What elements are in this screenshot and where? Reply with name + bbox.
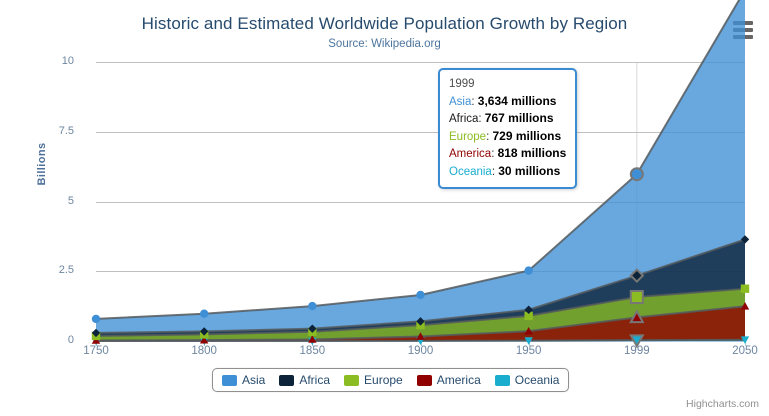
legend-label: America (437, 373, 481, 387)
tooltip-row: America: 818 millions (449, 145, 566, 163)
legend-swatch-oceania (495, 375, 510, 386)
legend-swatch-asia (222, 375, 237, 386)
tooltip-row: Oceania: 30 millions (449, 163, 566, 181)
legend-item-asia[interactable]: Asia (222, 373, 265, 387)
tooltip-header: 1999 (449, 76, 566, 93)
tooltip-row: Africa: 767 millions (449, 110, 566, 128)
tooltip: 1999 Asia: 3,634 millionsAfrica: 767 mil… (438, 68, 577, 189)
tooltip-series-name: Europe (449, 131, 486, 143)
tooltip-series-name: America (449, 148, 491, 160)
highcharts-container: Historic and Estimated Worldwide Populat… (0, 0, 769, 416)
data-point-europe-1999[interactable] (631, 291, 643, 303)
credits-link[interactable]: Highcharts.com (686, 398, 759, 410)
chart-legend[interactable]: AsiaAfricaEuropeAmericaOceania (212, 368, 569, 392)
legend-item-europe[interactable]: Europe (344, 373, 403, 387)
tooltip-row: Europe: 729 millions (449, 128, 566, 146)
legend-item-oceania[interactable]: Oceania (495, 373, 560, 387)
legend-label: Asia (242, 373, 265, 387)
legend-label: Oceania (515, 373, 560, 387)
legend-item-america[interactable]: America (417, 373, 481, 387)
tooltip-series-value: 818 millions (498, 146, 567, 160)
tooltip-series-value: 3,634 millions (478, 94, 557, 108)
tooltip-series-name: Asia (449, 96, 471, 108)
legend-swatch-africa (279, 375, 294, 386)
legend-label: Europe (364, 373, 403, 387)
legend-label: Africa (299, 373, 330, 387)
data-point-asia-1750[interactable] (92, 315, 100, 323)
data-point-asia-1850[interactable] (308, 302, 316, 310)
tooltip-series-value: 767 millions (485, 111, 554, 125)
plot-area (0, 0, 769, 416)
data-point-asia-1999[interactable] (631, 168, 643, 180)
data-point-asia-1950[interactable] (524, 266, 532, 274)
legend-swatch-america (417, 375, 432, 386)
tooltip-series-name: Africa (449, 113, 478, 125)
data-point-europe-2050[interactable] (741, 284, 749, 292)
tooltip-rows: Asia: 3,634 millionsAfrica: 767 millions… (449, 93, 566, 181)
tooltip-series-value: 30 millions (498, 164, 560, 178)
legend-item-africa[interactable]: Africa (279, 373, 330, 387)
data-point-asia-1800[interactable] (200, 310, 208, 318)
legend-swatch-europe (344, 375, 359, 386)
tooltip-row: Asia: 3,634 millions (449, 93, 566, 111)
data-point-asia-1900[interactable] (416, 291, 424, 299)
tooltip-series-name: Oceania (449, 166, 492, 178)
tooltip-series-value: 729 millions (492, 129, 561, 143)
